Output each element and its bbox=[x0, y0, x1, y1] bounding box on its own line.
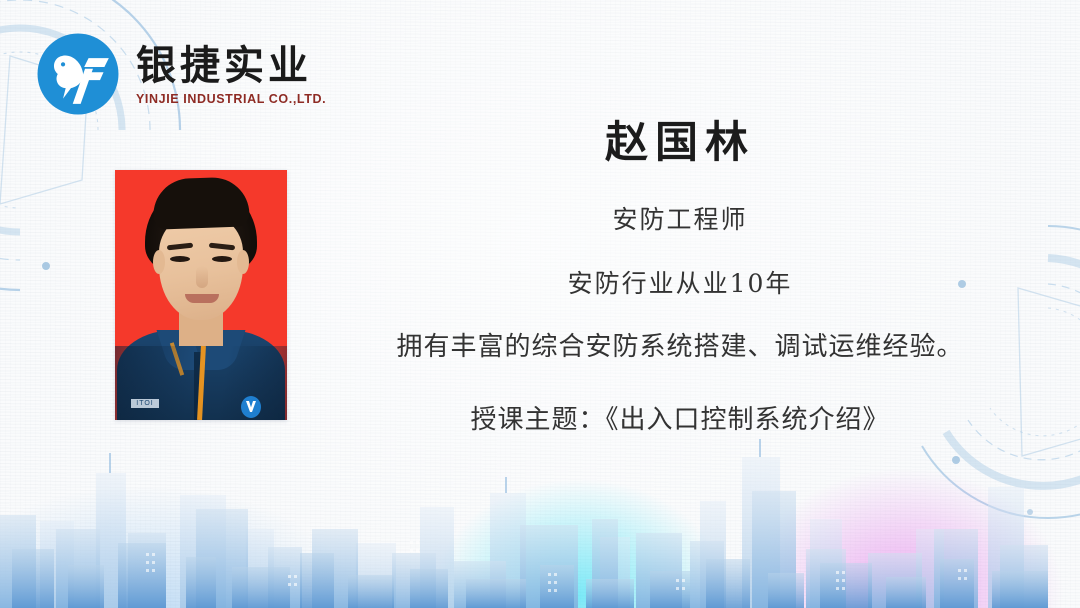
portrait-mouth bbox=[185, 294, 219, 303]
city-skyline-footer bbox=[0, 433, 1080, 608]
portrait-shirt-shading bbox=[115, 346, 287, 420]
speaker-info-block: 赵国林 安防工程师 安防行业从业10年 拥有丰富的综合安防系统搭建、调试运维经验… bbox=[330, 120, 1030, 440]
logo-text-group: 银捷实业 YINJIE INDUSTRIAL CO.,LTD. bbox=[136, 43, 326, 106]
company-name-cn: 银捷实业 bbox=[136, 45, 326, 87]
portrait-hair-top bbox=[152, 176, 250, 229]
portrait-eye-left bbox=[170, 256, 190, 262]
portrait-shirt-text: ITOI bbox=[131, 399, 159, 408]
slide-root: 银捷实业 YINJIE INDUSTRIAL CO.,LTD. ITOI 赵国林… bbox=[0, 0, 1080, 608]
company-logo-block: 银捷实业 YINJIE INDUSTRIAL CO.,LTD. bbox=[34, 30, 326, 118]
speaker-name: 赵国林 bbox=[330, 120, 1030, 167]
company-chest-badge-icon bbox=[241, 396, 261, 418]
portrait-eye-right bbox=[212, 256, 232, 262]
yinjie-dove-logo-icon bbox=[34, 30, 122, 118]
portrait-ear-right bbox=[237, 250, 249, 274]
speaker-portrait-photo: ITOI bbox=[115, 170, 287, 420]
speaker-summary: 拥有丰富的综合安防系统搭建、调试运维经验。 bbox=[330, 328, 1030, 367]
portrait-ear-left bbox=[153, 250, 165, 274]
company-name-en: YINJIE INDUSTRIAL CO.,LTD. bbox=[136, 92, 326, 106]
skyline-buildings bbox=[0, 433, 1080, 608]
speaker-title: 安防工程师 bbox=[330, 201, 1030, 239]
speaker-experience: 安防行业从业10年 bbox=[330, 265, 1030, 303]
portrait-nose bbox=[196, 266, 208, 288]
